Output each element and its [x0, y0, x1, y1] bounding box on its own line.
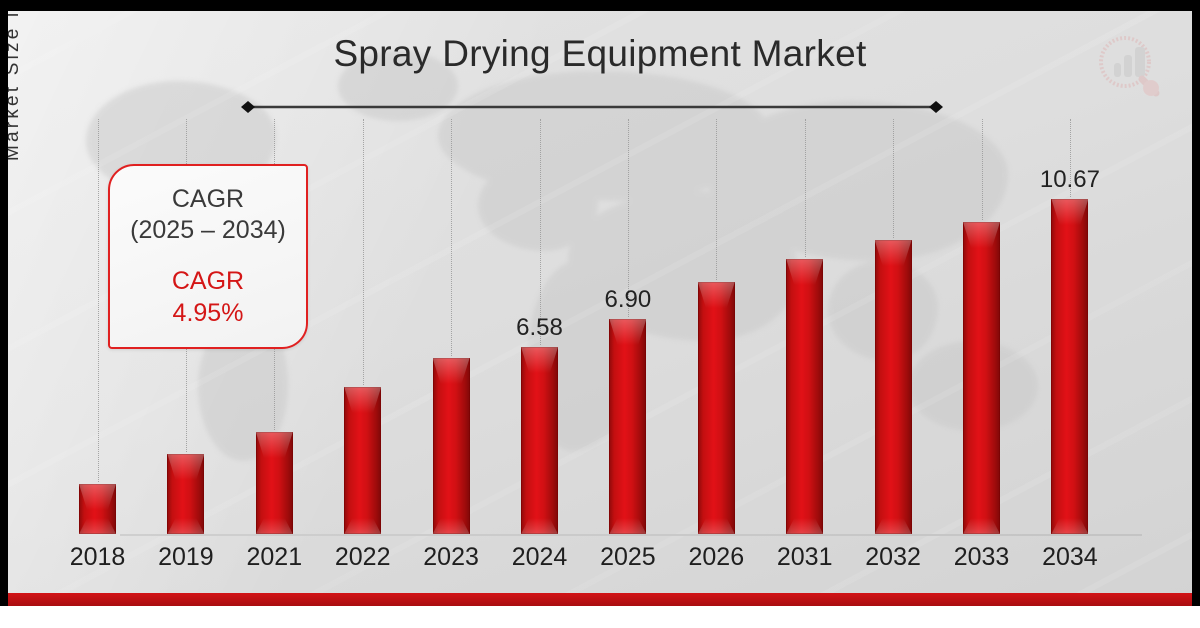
x-tick-2019: 2019 [142, 543, 230, 572]
bar-value-label-2034: 10.67 [1037, 166, 1103, 194]
bar-2031[interactable] [786, 259, 823, 534]
gridline [98, 119, 99, 482]
bar-foot-highlight [167, 518, 204, 534]
bar-foot-highlight [256, 518, 293, 534]
bar-2023[interactable] [433, 358, 470, 534]
bar-2032[interactable] [875, 240, 912, 534]
bar-foot-highlight [875, 518, 912, 534]
bar-2025[interactable] [609, 319, 646, 534]
gridline [540, 119, 541, 345]
bar-highlight [875, 240, 912, 266]
cagr-value: 4.95% [173, 299, 244, 328]
bar-2021[interactable] [256, 432, 293, 534]
bar-highlight [786, 259, 823, 285]
x-tick-2034: 2034 [1026, 543, 1114, 572]
bar-foot-highlight [698, 518, 735, 534]
x-tick-2033: 2033 [938, 543, 1026, 572]
gridline [363, 119, 364, 385]
cagr-title: CAGR [172, 185, 244, 214]
page-title: Spray Drying Equipment Market [8, 33, 1192, 75]
bar-foot-highlight [521, 518, 558, 534]
bar-2018[interactable] [79, 484, 116, 534]
chart-slide: Spray Drying Equipment Market Market Siz… [8, 11, 1192, 606]
gridline [893, 119, 894, 238]
bar-highlight [79, 484, 116, 510]
gridline [805, 119, 806, 257]
axis-baseline [120, 534, 1142, 536]
bar-foot-highlight [433, 518, 470, 534]
bar-highlight [1051, 199, 1088, 225]
bar-value-label-2024: 6.58 [507, 314, 573, 342]
gridline [716, 119, 717, 280]
x-tick-2025: 2025 [584, 543, 672, 572]
bottom-white-band [0, 606, 1200, 628]
bar-value-label-2025: 6.90 [595, 286, 661, 314]
bar-foot-highlight [344, 518, 381, 534]
bar-highlight [963, 222, 1000, 248]
bar-2034[interactable] [1051, 199, 1088, 534]
bar-highlight [698, 282, 735, 308]
x-tick-2032: 2032 [849, 543, 937, 572]
bar-2024[interactable] [521, 347, 558, 534]
gridline [982, 119, 983, 220]
bottom-red-rule [8, 593, 1192, 606]
bar-highlight [609, 319, 646, 345]
cagr-period: (2025 – 2034) [130, 216, 286, 245]
bar-highlight [344, 387, 381, 413]
bar-foot-highlight [786, 518, 823, 534]
cagr-callout: CAGR (2025 – 2034) CAGR 4.95% [108, 164, 308, 349]
bar-highlight [433, 358, 470, 384]
bar-highlight [256, 432, 293, 458]
x-tick-2021: 2021 [230, 543, 318, 572]
bar-highlight [167, 454, 204, 480]
x-tick-2026: 2026 [672, 543, 760, 572]
cagr-value-label: CAGR [172, 267, 244, 296]
bar-foot-highlight [1051, 518, 1088, 534]
bar-foot-highlight [963, 518, 1000, 534]
bar-2019[interactable] [167, 454, 204, 534]
gridline [451, 119, 452, 356]
bar-2026[interactable] [698, 282, 735, 534]
x-tick-2022: 2022 [319, 543, 407, 572]
x-tick-2024: 2024 [496, 543, 584, 572]
bar-2033[interactable] [963, 222, 1000, 534]
bar-foot-highlight [609, 518, 646, 534]
title-rule [240, 101, 944, 113]
x-tick-2031: 2031 [761, 543, 849, 572]
bar-2022[interactable] [344, 387, 381, 534]
bar-foot-highlight [79, 518, 116, 534]
slide-frame: Spray Drying Equipment Market Market Siz… [0, 0, 1200, 628]
x-tick-2023: 2023 [407, 543, 495, 572]
magnifier-bar-chart-logo-icon [1096, 33, 1164, 101]
bar-highlight [521, 347, 558, 373]
y-axis-title: Market Size in USD Bn [8, 11, 24, 161]
x-tick-2018: 2018 [54, 543, 142, 572]
